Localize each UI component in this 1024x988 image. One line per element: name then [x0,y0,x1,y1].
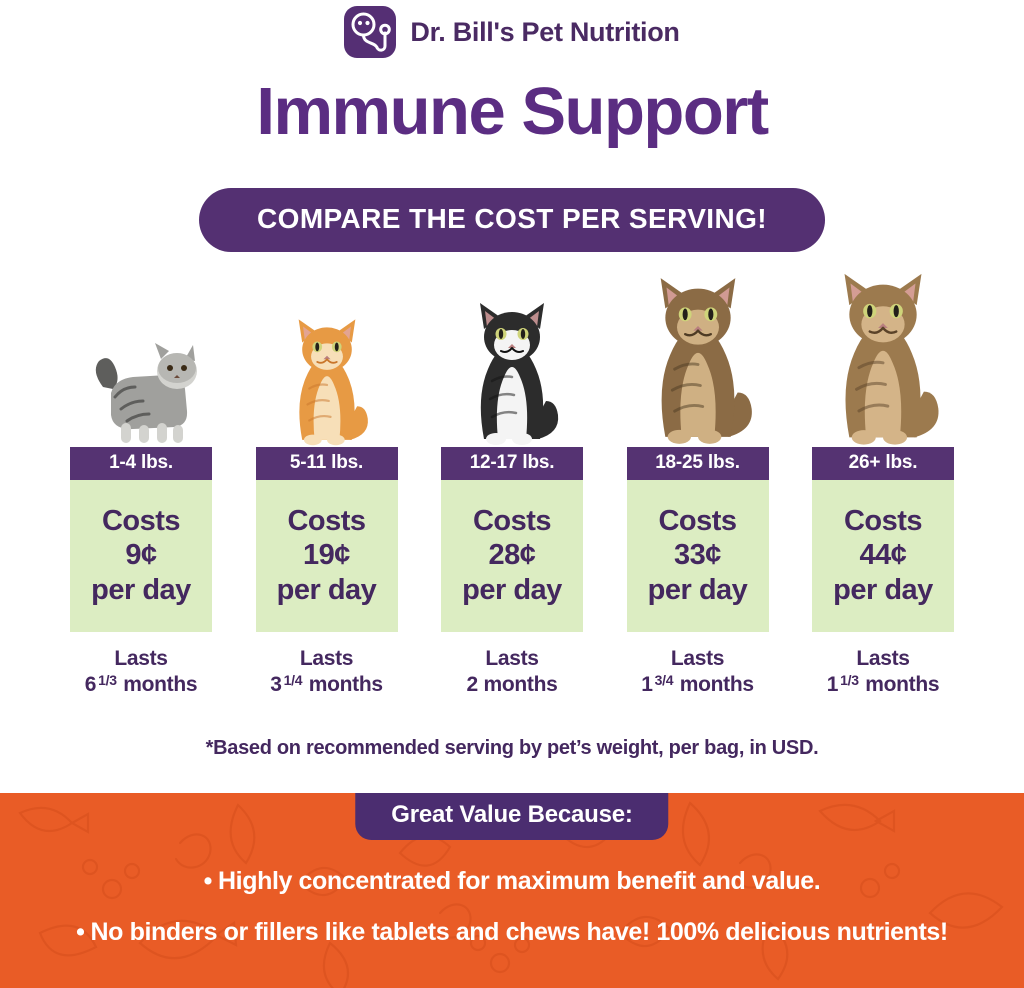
lasts-label: Lasts [270,646,383,672]
value-bullet-text: No binders or fillers like tablets and c… [91,918,948,946]
infographic-page: Dr. Bill's Pet Nutrition Immune Support … [0,0,1024,988]
weight-column: 1-4 lbs.Costs9¢per dayLasts61/3 months [62,335,220,699]
weight-range-badge: 5-11 lbs. [256,447,398,480]
lasts-value: 31/4 months [270,672,383,698]
lasts-value: 13/4 months [641,672,754,698]
lasts-label: Lasts [85,646,198,672]
cost-line1: Costs [658,504,736,538]
lasts-value: 2 months [467,672,558,698]
lasts-fraction: 1/3 [840,672,859,688]
cost-panel: Costs33¢per day [627,480,769,632]
cost-panel: Costs9¢per day [70,480,212,632]
footnote: *Based on recommended serving by pet’s w… [0,737,1024,760]
bullet-dot-icon: • [76,918,84,946]
tuxedo-cat-sitting-icon [433,289,591,447]
cost-line3: per day [833,573,933,607]
brand-header: Dr. Bill's Pet Nutrition [0,6,1024,58]
value-bullet: •No binders or fillers like tablets and … [0,918,1024,947]
cost-line3: per day [277,573,377,607]
weight-column: 26+ lbs.Costs44¢per dayLasts11/3 months [804,257,962,699]
lasts-duration: Lasts31/4 months [270,646,383,699]
stethoscope-pet-face-icon [344,6,396,58]
orange-tabby-cat-sitting-icon [248,307,406,447]
lasts-whole: 1 [641,673,652,696]
lasts-unit: months [865,673,939,696]
lasts-unit: months [123,673,197,696]
cost-line1: Costs [844,504,922,538]
bullet-dot-icon: • [204,867,212,895]
cost-line2: 28¢ [489,538,536,572]
lasts-label: Lasts [641,646,754,672]
cost-panel: Costs44¢per day [812,480,954,632]
weight-range-badge: 12-17 lbs. [441,447,583,480]
large-brown-tabby-cat-sitting-icon [804,257,962,447]
lasts-unit: months [309,673,383,696]
page-title: Immune Support [0,78,1024,145]
cost-line3: per day [462,573,562,607]
weight-comparison-columns: 1-4 lbs.Costs9¢per dayLasts61/3 months 5… [62,258,962,698]
lasts-value: 11/3 months [827,672,940,698]
weight-range-badge: 26+ lbs. [812,447,954,480]
lasts-label: Lasts [827,646,940,672]
lasts-duration: Lasts2 months [467,646,558,699]
lasts-fraction: 3/4 [655,672,674,688]
maine-coon-cat-sitting-icon [619,261,777,447]
cost-line3: per day [91,573,191,607]
lasts-unit: months [680,673,754,696]
value-bullet: •Highly concentrated for maximum benefit… [0,867,1024,896]
cost-line1: Costs [473,504,551,538]
lasts-unit: months [483,673,557,696]
gray-tabby-kitten-standing-icon [62,335,220,447]
weight-column: 18-25 lbs.Costs33¢per dayLasts13/4 month… [619,261,777,699]
weight-range-badge: 18-25 lbs. [627,447,769,480]
lasts-whole: 6 [85,673,96,696]
value-bullet-text: Highly concentrated for maximum benefit … [218,867,820,895]
brand-name: Dr. Bill's Pet Nutrition [410,17,679,48]
cost-line1: Costs [102,504,180,538]
lasts-duration: Lasts11/3 months [827,646,940,699]
cost-panel: Costs19¢per day [256,480,398,632]
cost-line2: 33¢ [674,538,721,572]
lasts-whole: 2 [467,673,478,696]
lasts-fraction: 1/3 [98,672,117,688]
great-value-band: Great Value Because: •Highly concentrate… [0,793,1024,988]
lasts-duration: Lasts61/3 months [85,646,198,699]
cost-line3: per day [648,573,748,607]
lasts-value: 61/3 months [85,672,198,698]
compare-cost-banner: COMPARE THE COST PER SERVING! [199,188,825,252]
lasts-whole: 3 [270,673,281,696]
weight-column: 5-11 lbs.Costs19¢per dayLasts31/4 months [248,307,406,699]
lasts-label: Lasts [467,646,558,672]
weight-range-badge: 1-4 lbs. [70,447,212,480]
cost-line2: 44¢ [860,538,907,572]
cost-line1: Costs [287,504,365,538]
cost-panel: Costs28¢per day [441,480,583,632]
value-bullet-list: •Highly concentrated for maximum benefit… [0,867,1024,947]
great-value-heading: Great Value Because: [355,793,668,840]
lasts-fraction: 1/4 [284,672,303,688]
lasts-duration: Lasts13/4 months [641,646,754,699]
cost-line2: 19¢ [303,538,350,572]
weight-column: 12-17 lbs.Costs28¢per dayLasts2 months [433,289,591,699]
cost-line2: 9¢ [125,538,156,572]
lasts-whole: 1 [827,673,838,696]
